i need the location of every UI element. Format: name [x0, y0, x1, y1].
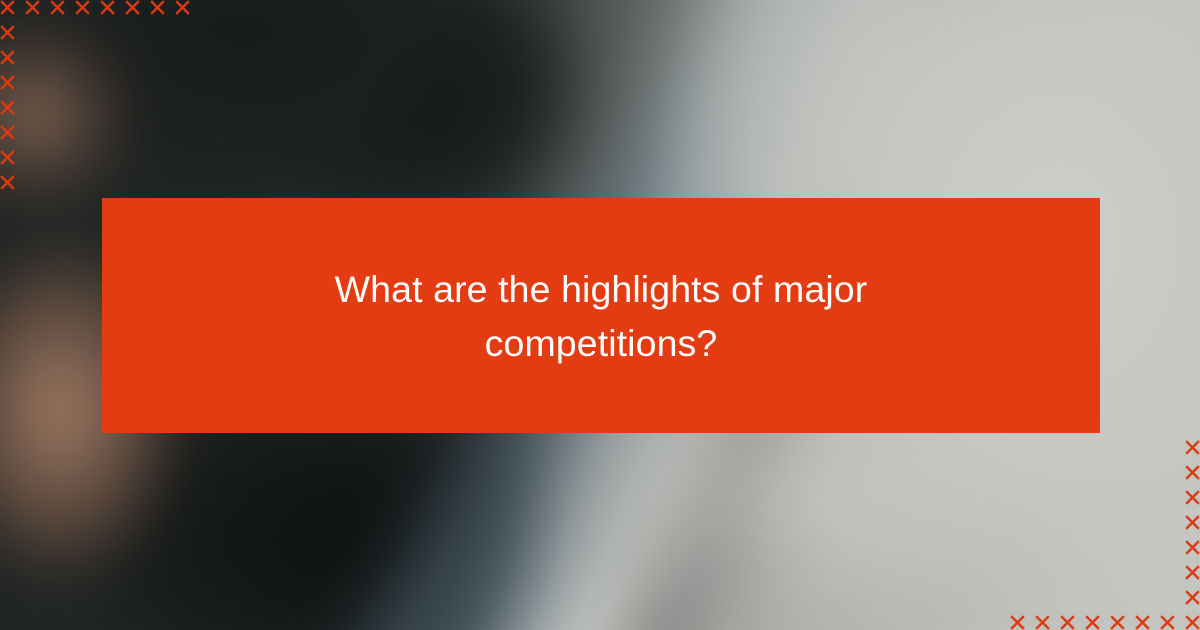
question-banner: What are the highlights of major competi…: [102, 198, 1100, 433]
question-title: What are the highlights of major competi…: [301, 262, 901, 370]
question-card: What are the highlights of major competi…: [0, 0, 1200, 630]
